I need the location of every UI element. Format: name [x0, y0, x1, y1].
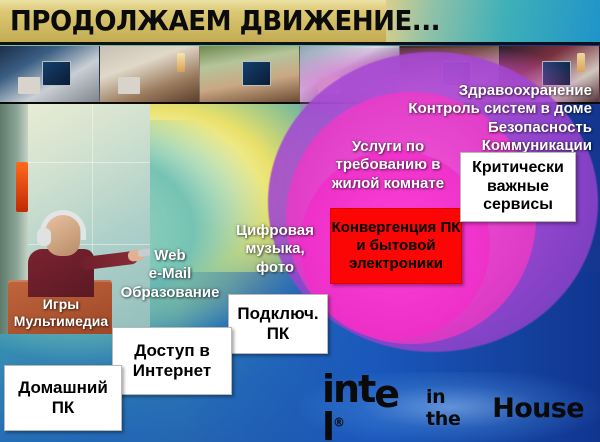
digital-media-line: фото — [222, 259, 328, 277]
web-email-education-label: Web e-Mail Образование — [108, 247, 232, 302]
connected-pc-box: Подключ. ПК — [228, 294, 328, 354]
monitor-icon — [242, 61, 272, 87]
critical-services-box: Критически важные сервисы — [460, 152, 576, 222]
internet-access-box: Доступ в Интернет — [112, 327, 232, 395]
page-title: ПРОДОЛЖАЕМ ДВИЖЕНИЕ... — [10, 7, 440, 35]
critical-services-item: Контроль систем в доме — [322, 100, 592, 118]
registered-trademark-icon: ® — [333, 415, 343, 429]
games-line: Игры — [2, 296, 120, 313]
digital-media-line: музыка, — [222, 240, 328, 258]
slide-canvas: ПРОДОЛЖАЕМ ДВИЖЕНИЕ... Здравоохранение К… — [0, 0, 600, 442]
critical-services-item: Безопасность — [322, 119, 592, 137]
intel-e: e — [374, 375, 398, 413]
web-line: e-Mail — [108, 265, 232, 283]
convergence-box-label: Конвергенция ПК и бытовой электроники — [331, 219, 461, 273]
connected-pc-box-label: Подключ. ПК — [229, 304, 327, 343]
photo-office-desk — [200, 46, 300, 102]
wall-line — [26, 162, 150, 163]
digital-media-label: Цифровая музыка, фото — [222, 222, 328, 277]
red-lamp-icon — [16, 162, 28, 212]
home-pc-box: Домашний ПК — [4, 365, 122, 431]
photo-living-room-2 — [100, 46, 200, 102]
critical-services-item: Здравоохранение — [322, 82, 592, 100]
on-demand-services-label: Услуги по требованию в жилой комнате — [308, 138, 468, 193]
lamp-icon — [177, 53, 185, 72]
games-line: Мультимедиа — [2, 313, 120, 330]
digital-media-line: Цифровая — [222, 222, 328, 240]
web-line: Образование — [108, 284, 232, 302]
console-icon — [118, 77, 140, 94]
tv-icon — [42, 61, 72, 87]
on-demand-line: Услуги по — [308, 138, 468, 156]
headphone-earcup — [37, 228, 51, 246]
critical-services-box-label: Критически важные сервисы — [461, 159, 575, 214]
photo-living-room-1 — [0, 46, 100, 102]
intel-l: l — [322, 405, 333, 442]
web-line: Web — [108, 247, 232, 265]
title-banner: ПРОДОЛЖАЕМ ДВИЖЕНИЕ... — [0, 0, 386, 45]
console-icon — [18, 77, 40, 94]
intel-logo: intel® in the House — [322, 386, 584, 430]
intel-tagline: in the — [426, 386, 486, 430]
intel-house-word: House — [492, 393, 584, 424]
games-multimedia-label: Игры Мультимедиа — [2, 296, 120, 330]
convergence-box: Конвергенция ПК и бытовой электроники — [330, 208, 462, 284]
intel-wordmark: intel® — [322, 370, 419, 442]
on-demand-line: требованию в — [308, 156, 468, 174]
home-pc-box-label: Домашний ПК — [5, 378, 121, 417]
on-demand-line: жилой комнате — [308, 175, 468, 193]
internet-access-box-label: Доступ в Интернет — [113, 341, 231, 380]
